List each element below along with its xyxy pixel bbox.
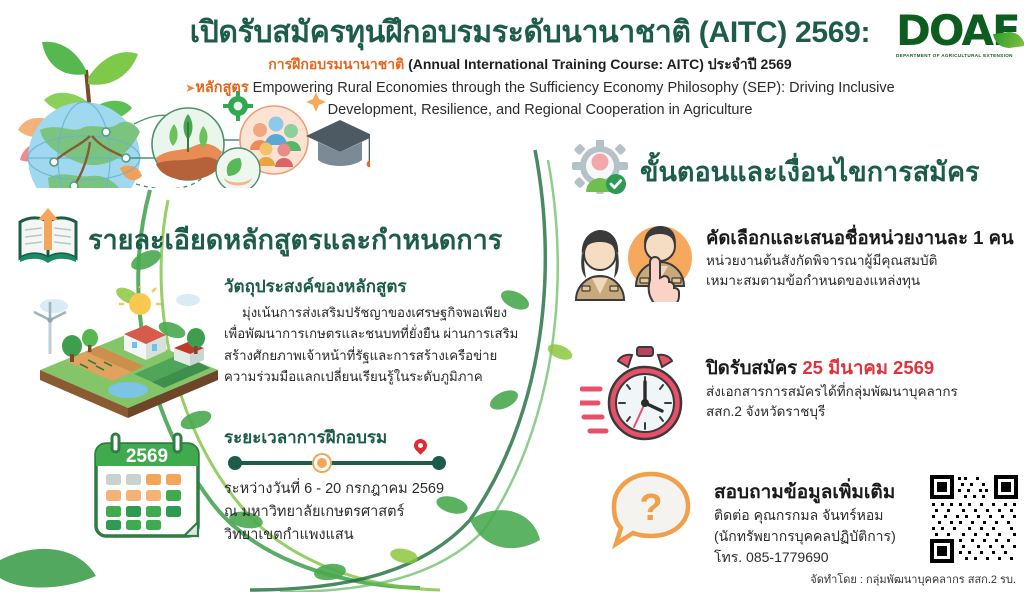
period-dates: ระหว่างวันที่ 6 - 20 กรกฎาคม 2569 — [224, 478, 514, 501]
stopwatch-icon — [580, 345, 686, 445]
arrow-icon: ➤ — [185, 81, 195, 95]
period-venue-line2: วิทยาเขตกำแพงแสน — [224, 524, 514, 547]
step-2-title: ปิดรับสมัคร 25 มีนาคม 2569 — [706, 354, 934, 383]
timeline-dot-mid — [314, 455, 330, 471]
qr-code[interactable] — [928, 473, 1020, 565]
contact-phone: โทร. 085-1779690 — [714, 547, 944, 568]
objective-body: มุ่งเน้นการส่งเสริมปรัชญาของเศรษฐกิจพอเพ… — [224, 302, 524, 388]
step-2-body-line1: ส่งเอกสารการสมัครได้ที่กลุ่มพัฒนาบุคลากร — [706, 382, 1018, 402]
page-subtitle: การฝึกอบรมนานาชาติ (Annual International… — [150, 55, 910, 73]
footer-credit: จัดทำโดย : กลุ่มพัฒนาบุคคลากร สสก.2 รบ. — [700, 570, 1016, 588]
contact-position: (นักทรัพยากรบุคคลปฏิบัติการ) — [714, 526, 944, 547]
course-title-line2: Development, Resilience, and Regional Co… — [115, 100, 965, 122]
course-title-block: ➤หลักสูตร Empowering Rural Economies thr… — [115, 78, 965, 122]
objective-title: วัตถุประสงค์ของหลักสูตร — [224, 273, 407, 300]
course-tag-label: หลักสูตร — [195, 80, 248, 96]
period-details: ระหว่างวันที่ 6 - 20 กรกฎาคม 2569 ณ มหาว… — [224, 478, 514, 548]
step-1-title: คัดเลือกและเสนอชื่อหน่วยงานละ 1 คน — [706, 224, 1014, 253]
map-pin-icon — [411, 436, 429, 454]
infographic-poster: เปิดรับสมัครทุนฝึกอบรมระดับนานาชาติ (AIT… — [0, 0, 1024, 592]
subtitle-thai: การฝึกอบรมนานาชาติ — [268, 56, 404, 72]
calendar-icon: 2569 — [88, 432, 208, 544]
period-venue-line1: ณ มหาวิทยาลัยเกษตรศาสตร์ — [224, 501, 514, 524]
timeline-dot-end — [432, 456, 446, 470]
doae-caption: DEPARTMENT OF AGRICULTURAL EXTENSION — [896, 53, 1024, 58]
step-2-title-prefix: ปิดรับสมัคร — [706, 357, 797, 378]
doae-logo: DOAE DEPARTMENT OF AGRICULTURAL EXTENSIO… — [896, 10, 1024, 66]
question-mark-glyph: ? — [639, 487, 662, 529]
timeline — [228, 455, 446, 471]
calendar-year-label: 2569 — [126, 446, 168, 467]
officers-icon — [568, 222, 698, 302]
step-1-body: หน่วยงานต้นสังกัดพิจารณาผู้มีคุณสมบัติ เ… — [706, 251, 1018, 290]
period-title: ระยะเวลาการฝึกอบรม — [224, 424, 387, 451]
farm-illustration — [28, 286, 228, 422]
timeline-track — [232, 461, 442, 465]
timeline-dot-start — [228, 456, 242, 470]
right-section-heading: ขั้นตอนและเงื่อนไขการสมัคร — [640, 150, 980, 193]
subtitle-english: (Annual International Training Course: A… — [408, 56, 792, 72]
page-title: เปิดรับสมัครทุนฝึกอบรมระดับนานาชาติ (AIT… — [150, 16, 910, 51]
step-1-body-line1: หน่วยงานต้นสังกัดพิจารณาผู้มีคุณสมบัติ — [706, 251, 1018, 271]
step-2-body-line2: สสก.2 จังหวัดราชบุรี — [706, 402, 1018, 422]
open-book-icon — [16, 208, 80, 264]
contact-title: สอบถามข้อมูลเพิ่มเติม — [714, 477, 895, 507]
contact-name: ติดต่อ คุณกรกมล จันทร์หอม — [714, 505, 944, 526]
left-section-heading: รายละเอียดหลักสูตรและกำหนดการ — [88, 218, 502, 261]
step-2-deadline-date: 25 มีนาคม 2569 — [802, 357, 934, 378]
step-1-body-line2: เหมาะสมตามข้อกำหนดของแหล่งทุน — [706, 271, 1018, 291]
gear-person-icon — [570, 140, 632, 196]
step-2-body: ส่งเอกสารการสมัครได้ที่กลุ่มพัฒนาบุคลากร… — [706, 382, 1018, 421]
course-title-line1: Empowering Rural Economies through the S… — [253, 80, 895, 96]
question-bubble-icon: ? — [608, 470, 694, 550]
contact-body: ติดต่อ คุณกรกมล จันทร์หอม (นักทรัพยากรบุ… — [714, 505, 944, 568]
